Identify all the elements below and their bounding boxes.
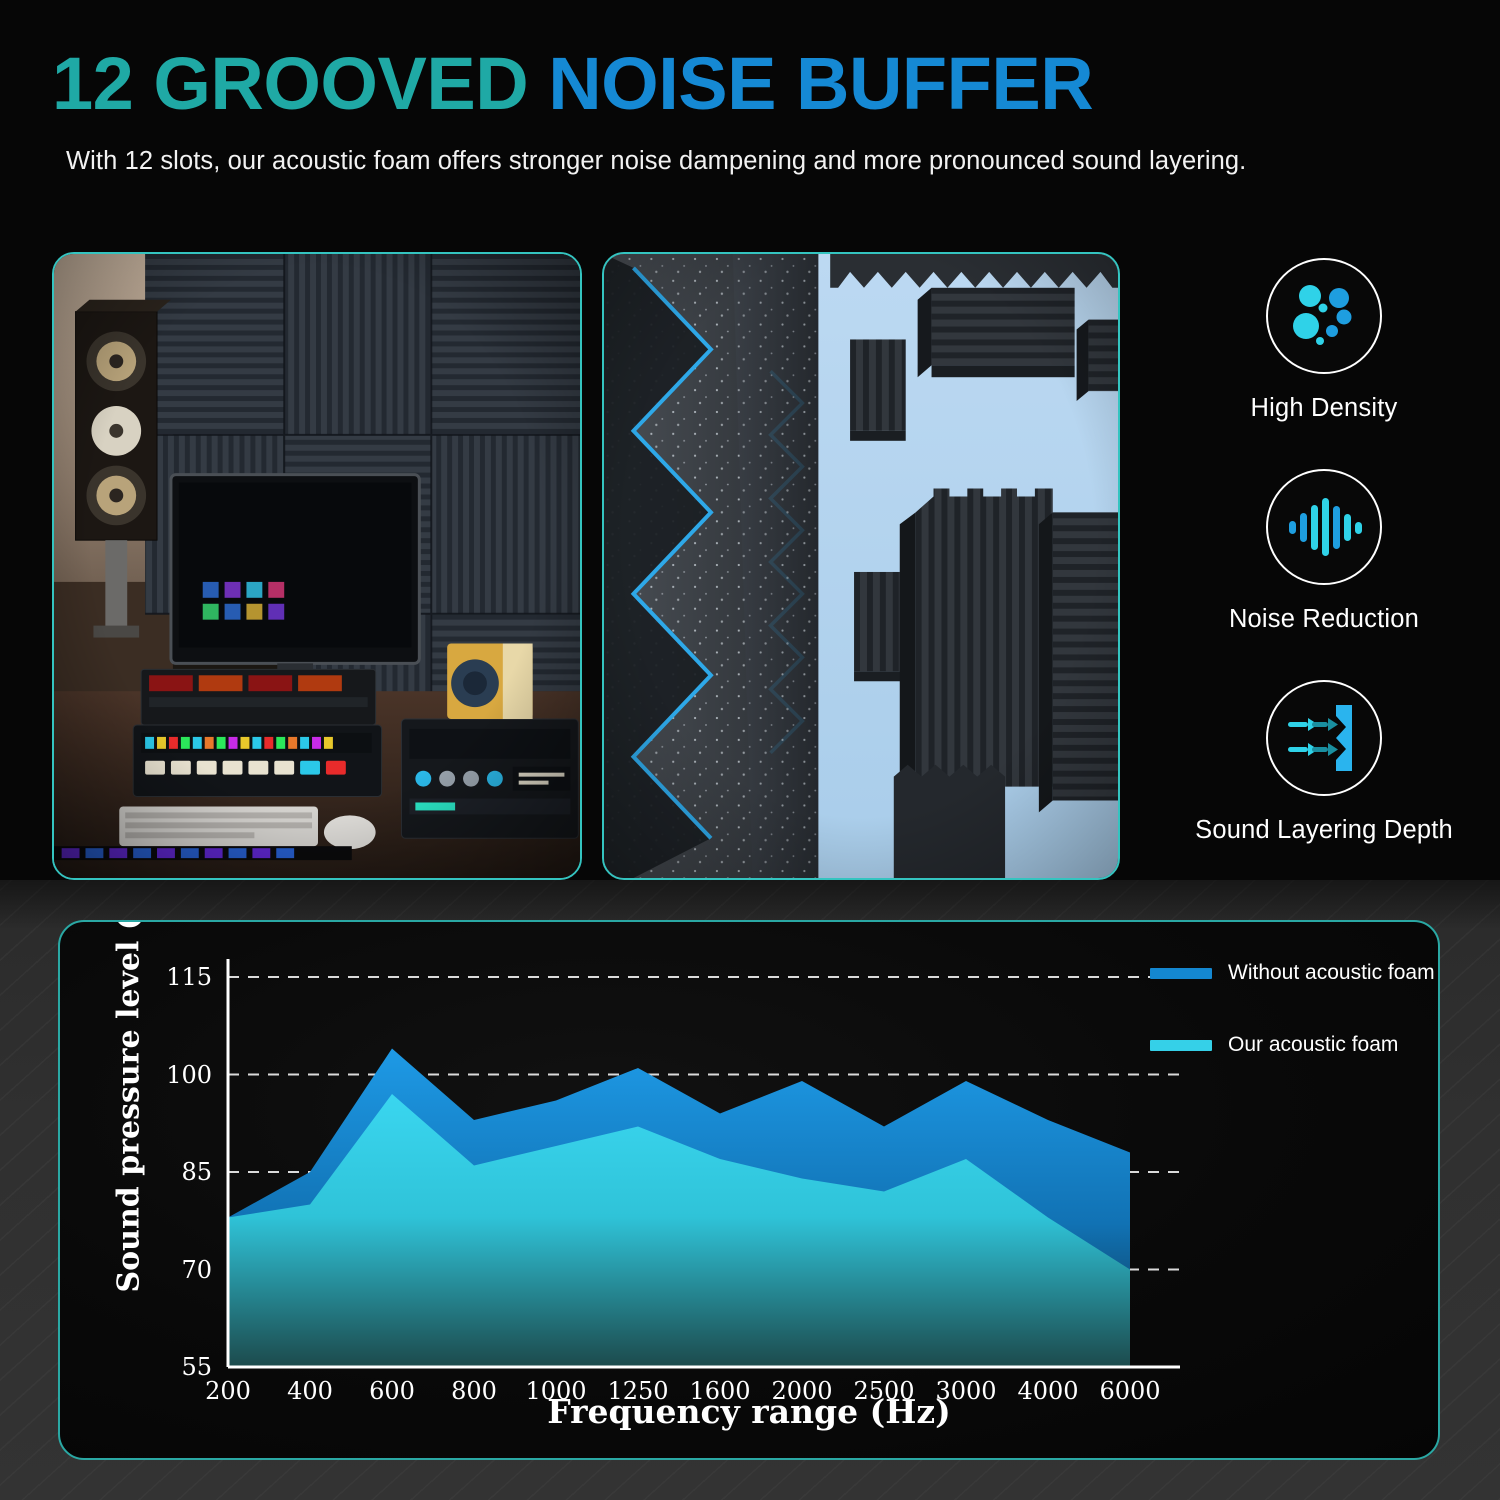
- feature-list: High Density Noise Reduction: [1148, 258, 1500, 845]
- page-title-part1: 12 GROOVED: [52, 42, 528, 125]
- chart-x-tick: 200: [183, 1377, 273, 1405]
- photo-studio-desk: [52, 252, 582, 880]
- chart-x-tick: 4000: [1003, 1377, 1093, 1405]
- chart-x-tick: 1000: [511, 1377, 601, 1405]
- feature-label-1: High Density: [1148, 394, 1500, 423]
- page-title: 12 GROOVED NOISE BUFFER: [52, 47, 1500, 121]
- legend-item-without-foam: Without acoustic foam: [1150, 960, 1435, 986]
- chart-x-tick: 400: [265, 1377, 355, 1405]
- feature-high-density: High Density: [1148, 258, 1500, 423]
- chart-x-tick: 6000: [1085, 1377, 1175, 1405]
- chart-legend: Without acoustic foam Our acoustic foam: [1150, 960, 1435, 1058]
- chart-x-tick: 1250: [593, 1377, 683, 1405]
- page-header: 12 GROOVED NOISE BUFFER With 12 slots, o…: [0, 0, 1500, 176]
- chart-x-tick: 800: [429, 1377, 519, 1405]
- foam-wedge-illustration: [604, 254, 1118, 878]
- sound-absorption-arrows-icon: [1284, 703, 1364, 773]
- chart-y-axis-label: Sound pressure level (dB): [112, 963, 147, 1293]
- density-dots-icon: [1287, 279, 1361, 353]
- legend-swatch-without-foam: [1150, 968, 1212, 979]
- page-subtitle: With 12 slots, our acoustic foam offers …: [66, 147, 1500, 176]
- feature-label-2: Noise Reduction: [1148, 605, 1500, 634]
- feature-icon-circle-2: [1266, 469, 1382, 585]
- legend-item-our-foam: Our acoustic foam: [1150, 1032, 1435, 1058]
- chart-y-tick: 115: [142, 963, 212, 991]
- feature-label-3: Sound Layering Depth: [1148, 816, 1500, 845]
- chart-x-tick: 1600: [675, 1377, 765, 1405]
- chart-x-tick: 3000: [921, 1377, 1011, 1405]
- chart-y-tick: 85: [142, 1158, 212, 1186]
- chart-x-tick: 2000: [757, 1377, 847, 1405]
- legend-label-our-foam: Our acoustic foam: [1228, 1033, 1398, 1057]
- photo-foam-profile: [602, 252, 1120, 880]
- chart-x-tick: 600: [347, 1377, 437, 1405]
- feature-sound-layering: Sound Layering Depth: [1148, 680, 1500, 845]
- chart-x-tick: 2500: [839, 1377, 929, 1405]
- chart-y-tick: 70: [142, 1256, 212, 1284]
- chart-y-tick: 100: [142, 1061, 212, 1089]
- page-title-part2: NOISE BUFFER: [548, 42, 1093, 125]
- feature-icon-circle-1: [1266, 258, 1382, 374]
- legend-swatch-our-foam: [1150, 1040, 1212, 1051]
- studio-desk-illustration: [54, 254, 580, 878]
- feature-icon-circle-3: [1266, 680, 1382, 796]
- chart-panel: Sound pressure level (dB) Frequency rang…: [58, 920, 1440, 1460]
- legend-label-without-foam: Without acoustic foam: [1228, 961, 1435, 985]
- feature-noise-reduction: Noise Reduction: [1148, 469, 1500, 634]
- sound-wave-icon: [1286, 496, 1362, 558]
